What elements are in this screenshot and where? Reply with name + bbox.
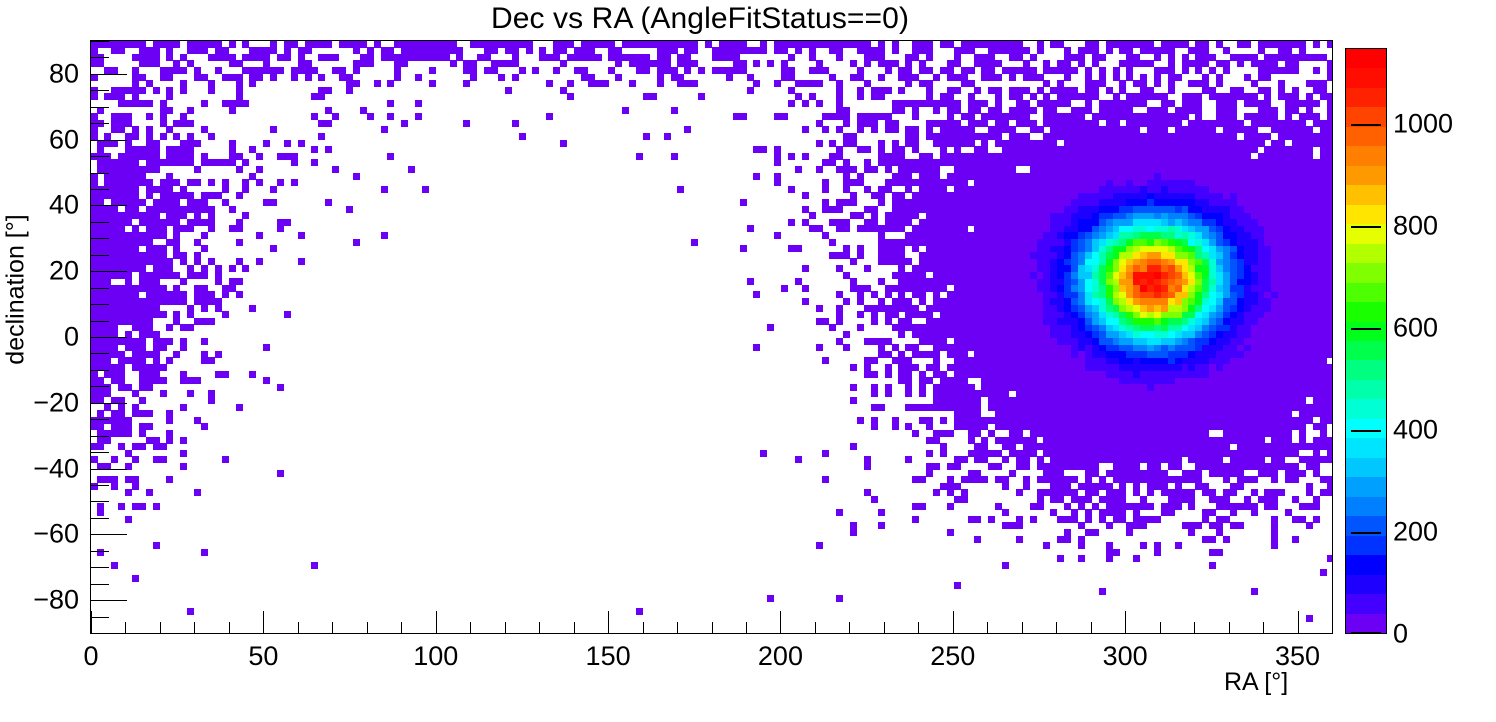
colorbar-tick-mark — [1351, 226, 1381, 228]
y-tick-mark — [91, 386, 109, 387]
x-tick-mark — [229, 622, 230, 633]
x-tick-mark — [401, 622, 402, 633]
x-tick-label: 200 — [758, 641, 803, 672]
colorbar-ticks — [1345, 48, 1387, 634]
y-tick-mark — [91, 255, 109, 256]
y-tick-label: 20 — [1, 256, 79, 287]
y-tick-mark — [91, 57, 109, 58]
y-tick-mark — [91, 452, 109, 453]
y-tick-mark — [91, 633, 109, 634]
y-tick-mark — [91, 288, 109, 289]
x-tick-mark — [746, 622, 747, 633]
x-tick-label: 350 — [1275, 641, 1320, 672]
colorbar-labels: 02004006008001000 — [1393, 48, 1493, 634]
colorbar-tick-mark — [1351, 328, 1381, 330]
y-tick-mark — [91, 41, 109, 42]
colorbar-tick-label: 200 — [1393, 517, 1438, 548]
x-tick-label: 50 — [248, 641, 278, 672]
y-tick-mark — [91, 584, 109, 585]
x-tick-mark — [1125, 611, 1126, 633]
x-tick-mark — [953, 611, 954, 633]
y-tick-label: −40 — [1, 453, 79, 484]
x-tick-mark — [987, 622, 988, 633]
colorbar-tick-label: 0 — [1393, 619, 1408, 650]
y-tick-mark — [91, 205, 127, 206]
x-tick-mark — [712, 622, 713, 633]
y-tick-mark — [91, 436, 109, 437]
x-tick-mark — [1332, 622, 1333, 633]
y-tick-mark — [91, 567, 109, 568]
x-tick-mark — [1194, 622, 1195, 633]
x-tick-mark — [574, 622, 575, 633]
y-tick-mark — [91, 419, 109, 420]
histogram-heatmap — [91, 41, 1333, 634]
x-axis-title: RA [°] — [1224, 668, 1288, 697]
y-tick-mark — [91, 337, 127, 338]
y-tick-mark — [91, 617, 109, 618]
x-tick-mark — [470, 622, 471, 633]
y-tick-mark — [91, 123, 109, 124]
x-tick-mark — [677, 622, 678, 633]
x-tick-mark — [608, 611, 609, 633]
x-tick-label: 250 — [930, 641, 975, 672]
y-tick-mark — [91, 518, 109, 519]
colorbar-tick-label: 400 — [1393, 415, 1438, 446]
colorbar-tick-mark — [1351, 632, 1381, 634]
x-tick-mark — [194, 622, 195, 633]
y-tick-mark — [91, 534, 127, 535]
y-tick-mark — [91, 551, 109, 552]
x-tick-mark — [884, 622, 885, 633]
y-tick-mark — [91, 189, 109, 190]
x-tick-mark — [332, 622, 333, 633]
x-tick-mark — [125, 622, 126, 633]
x-tick-mark — [1229, 622, 1230, 633]
x-tick-mark — [160, 622, 161, 633]
x-tick-label: 100 — [413, 641, 458, 672]
x-tick-mark — [918, 622, 919, 633]
y-tick-label: −20 — [1, 387, 79, 418]
y-tick-label: 0 — [1, 322, 79, 353]
colorbar-tick-mark — [1351, 430, 1381, 432]
colorbar-tick-label: 800 — [1393, 211, 1438, 242]
plot-frame — [90, 40, 1333, 634]
y-tick-mark — [91, 156, 109, 157]
x-tick-mark — [849, 622, 850, 633]
x-tick-mark — [815, 622, 816, 633]
y-tick-mark — [91, 238, 109, 239]
y-tick-mark — [91, 304, 109, 305]
x-tick-mark — [1263, 622, 1264, 633]
x-tick-label: 150 — [586, 641, 631, 672]
y-tick-label: 40 — [1, 190, 79, 221]
colorbar-tick-mark — [1351, 532, 1381, 534]
x-tick-mark — [263, 611, 264, 633]
y-tick-mark — [91, 353, 109, 354]
x-tick-mark — [1022, 622, 1023, 633]
x-tick-mark — [643, 622, 644, 633]
y-tick-mark — [91, 485, 109, 486]
x-tick-mark — [367, 622, 368, 633]
y-tick-mark — [91, 469, 127, 470]
y-tick-mark — [91, 501, 109, 502]
x-tick-mark — [436, 611, 437, 633]
y-tick-mark — [91, 140, 127, 141]
colorbar-tick-label: 1000 — [1393, 109, 1453, 140]
y-tick-label: −80 — [1, 585, 79, 616]
y-tick-mark — [91, 370, 109, 371]
y-tick-label: −60 — [1, 519, 79, 550]
x-tick-mark — [1056, 622, 1057, 633]
y-tick-mark — [91, 222, 109, 223]
y-tick-mark — [91, 271, 127, 272]
x-tick-mark — [1091, 622, 1092, 633]
colorbar-tick-label: 600 — [1393, 313, 1438, 344]
x-tick-mark — [505, 622, 506, 633]
x-tick-mark — [780, 611, 781, 633]
page-title: Dec vs RA (AngleFitStatus==0) — [0, 2, 1400, 36]
y-tick-label: 60 — [1, 124, 79, 155]
x-tick-mark — [1298, 611, 1299, 633]
x-tick-label: 0 — [83, 641, 98, 672]
x-tick-mark — [1160, 622, 1161, 633]
y-tick-label: 80 — [1, 58, 79, 89]
y-tick-mark — [91, 90, 109, 91]
x-tick-mark — [539, 622, 540, 633]
y-tick-mark — [91, 321, 109, 322]
y-tick-mark — [91, 173, 109, 174]
x-tick-mark — [298, 622, 299, 633]
x-tick-mark — [91, 611, 92, 633]
y-tick-mark — [91, 403, 127, 404]
y-tick-mark — [91, 107, 109, 108]
y-tick-mark — [91, 74, 127, 75]
y-tick-mark — [91, 600, 127, 601]
x-tick-label: 300 — [1103, 641, 1148, 672]
root-plot-canvas: Dec vs RA (AngleFitStatus==0) declinatio… — [0, 0, 1496, 722]
colorbar-tick-mark — [1351, 124, 1381, 126]
